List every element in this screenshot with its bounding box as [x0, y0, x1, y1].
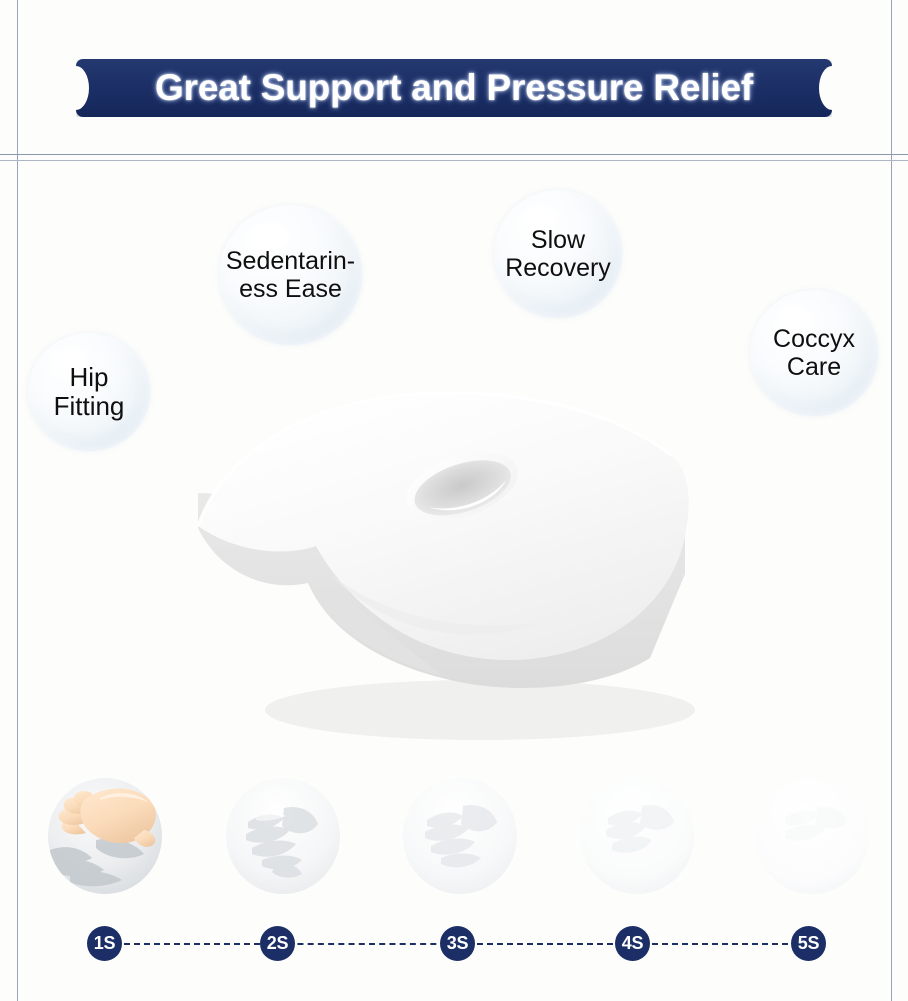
header-divider-bottom — [0, 160, 908, 161]
header-banner: Great Support and Pressure Relief — [76, 59, 832, 117]
timeline-badge-4s: 4S — [615, 926, 650, 961]
feature-bubble-coccyx-care: Coccyx Care — [750, 290, 878, 416]
recovery-frame-1 — [48, 778, 162, 894]
feature-label-sedentariness-ease: Sedentarin- ess Ease — [226, 247, 355, 303]
header-divider-top — [0, 154, 908, 155]
recovery-frame-2 — [226, 778, 340, 894]
recovery-frame-4 — [580, 778, 694, 894]
infographic-page: Great Support and Pressure Relief Hip Fi… — [0, 0, 908, 1001]
feature-label-coccyx-care: Coccyx Care — [773, 325, 855, 381]
feature-bubble-hip-fitting: Hip Fitting — [28, 333, 150, 451]
product-image-seat-cushion — [180, 378, 700, 750]
feature-bubble-slow-recovery: Slow Recovery — [494, 190, 622, 318]
timeline-badge-3s: 3S — [440, 926, 475, 961]
recovery-demo-row — [0, 778, 908, 898]
timeline-badge-5s: 5S — [791, 926, 826, 961]
timeline-connector-2-3 — [277, 943, 467, 945]
feature-label-hip-fitting: Hip Fitting — [54, 363, 125, 421]
timeline-badge-1s: 1S — [87, 926, 122, 961]
feature-label-slow-recovery: Slow Recovery — [505, 226, 611, 282]
recovery-timeline: 1S 2S 3S 4S 5S — [0, 926, 908, 966]
recovery-frame-5 — [755, 778, 869, 894]
page-title: Great Support and Pressure Relief — [76, 59, 832, 117]
recovery-frame-3 — [403, 778, 517, 894]
timeline-badge-2s: 2S — [260, 926, 295, 961]
feature-bubble-sedentariness-ease: Sedentarin- ess Ease — [219, 205, 362, 345]
